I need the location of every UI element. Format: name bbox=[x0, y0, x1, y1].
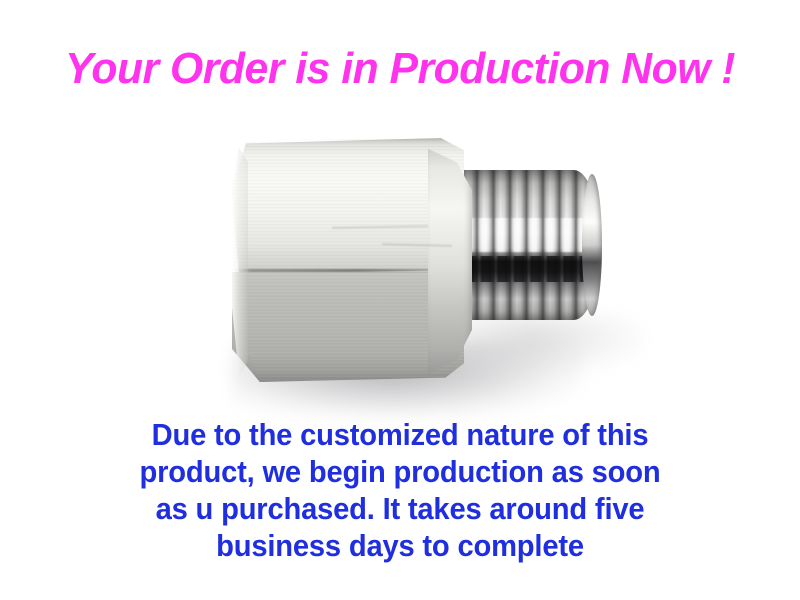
notice-line: Due to the customized nature of this bbox=[24, 416, 776, 453]
production-notice: Due to the customized nature of this pro… bbox=[0, 416, 800, 564]
notice-line: as u purchased. It takes around five bbox=[24, 490, 776, 527]
notice-line: business days to complete bbox=[24, 527, 776, 564]
page-title: Your Order is in Production Now ! bbox=[12, 46, 788, 92]
hex-body bbox=[232, 138, 464, 382]
product-image bbox=[0, 108, 800, 408]
notice-line: product, we begin production as soon bbox=[24, 453, 776, 490]
product-shadow-thread bbox=[455, 313, 645, 375]
hex-facet-edge bbox=[234, 269, 462, 272]
hex-end-face bbox=[428, 144, 472, 376]
thread-end-face bbox=[582, 174, 602, 316]
promo-banner: Your Order is in Production Now ! Due to… bbox=[0, 0, 800, 600]
